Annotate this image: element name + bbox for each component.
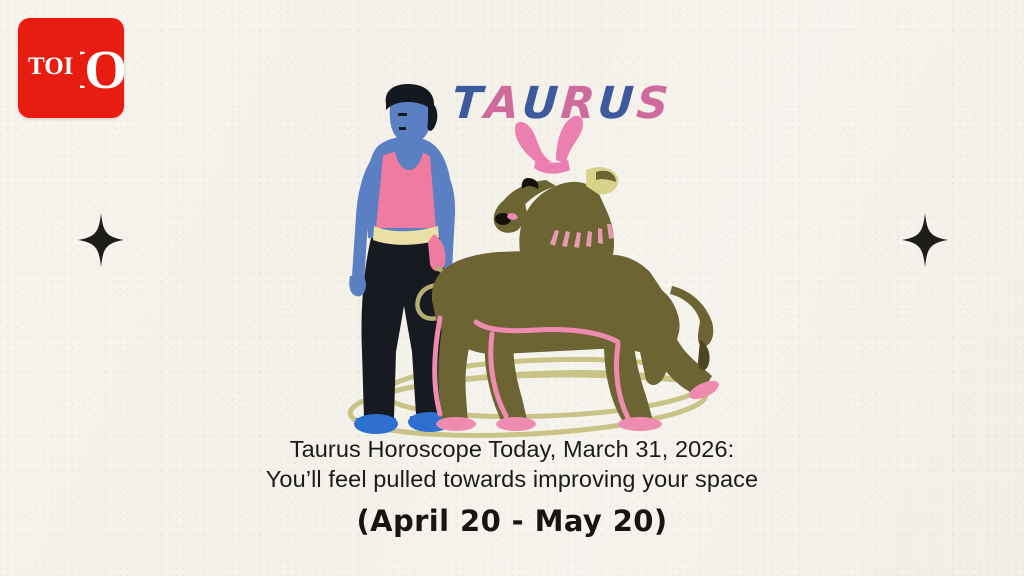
caption-line-2: You’ll feel pulled towards improving you… [0, 464, 1024, 494]
caption-line-1: Taurus Horoscope Today, March 31, 2026: [0, 434, 1024, 464]
caption-block: Taurus Horoscope Today, March 31, 2026: … [0, 434, 1024, 494]
bull-figure [432, 116, 722, 431]
zodiac-date-range: (April 20 - May 20) [0, 504, 1024, 538]
horoscope-card: IO TOI TAURUS [0, 0, 1024, 576]
bull-hooves [436, 377, 721, 431]
